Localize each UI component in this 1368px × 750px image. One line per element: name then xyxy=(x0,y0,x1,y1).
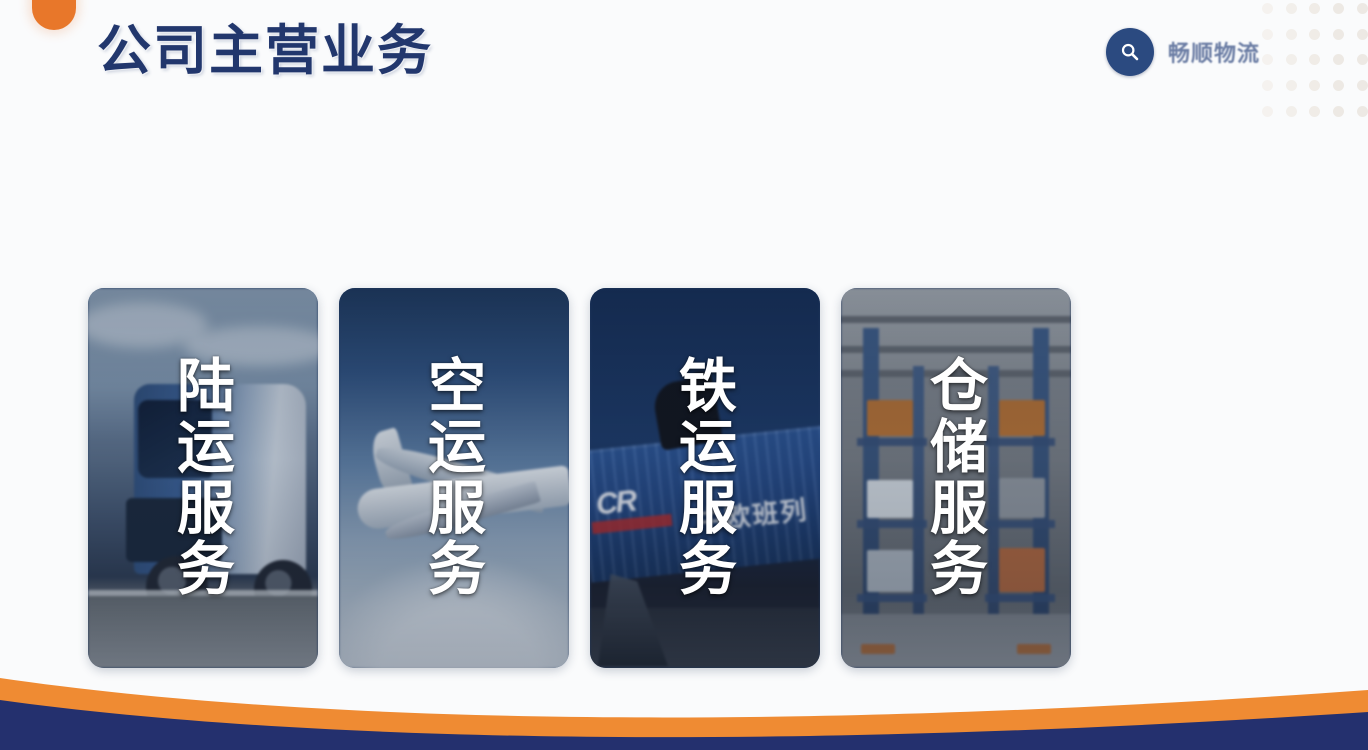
brand-logo: 畅顺物流 xyxy=(1106,28,1260,76)
page-title: 公司主营业务 xyxy=(97,22,433,80)
service-card-land-transport[interactable]: 陆 运 服 务 xyxy=(88,288,318,668)
service-card-label: 仓 储 服 务 xyxy=(841,288,1071,668)
label-char: 服 xyxy=(177,479,235,538)
search-icon xyxy=(1106,28,1154,76)
label-char: 服 xyxy=(930,479,988,538)
service-card-label: 陆 运 服 务 xyxy=(88,288,318,668)
service-card-label: 铁 运 服 务 xyxy=(590,288,820,668)
label-char: 仓 xyxy=(930,357,988,416)
service-card-warehousing[interactable]: 仓 储 服 务 xyxy=(841,288,1071,668)
label-char: 运 xyxy=(177,418,235,477)
label-char: 空 xyxy=(428,357,486,416)
slide-header: 公司主营业务 畅顺物流 xyxy=(0,0,1368,110)
service-card-rail-transport[interactable]: CR 中欧班列 铁 运 服 务 xyxy=(590,288,820,668)
label-char: 务 xyxy=(428,540,486,599)
label-char: 铁 xyxy=(679,357,737,416)
label-char: 服 xyxy=(679,479,737,538)
service-card-label: 空 运 服 务 xyxy=(339,288,569,668)
brand-name: 畅顺物流 xyxy=(1168,36,1260,68)
label-char: 陆 xyxy=(177,357,235,416)
service-card-air-transport[interactable]: 空 运 服 务 xyxy=(339,288,569,668)
label-char: 储 xyxy=(930,418,988,477)
label-char: 运 xyxy=(428,418,486,477)
label-char: 务 xyxy=(679,540,737,599)
slide-canvas: 公司主营业务 畅顺物流 xyxy=(0,0,1368,750)
label-char: 务 xyxy=(930,540,988,599)
label-char: 务 xyxy=(177,540,235,599)
label-char: 运 xyxy=(679,418,737,477)
label-char: 服 xyxy=(428,479,486,538)
service-card-row: 陆 运 服 务 空 运 服 务 xyxy=(88,288,1052,668)
